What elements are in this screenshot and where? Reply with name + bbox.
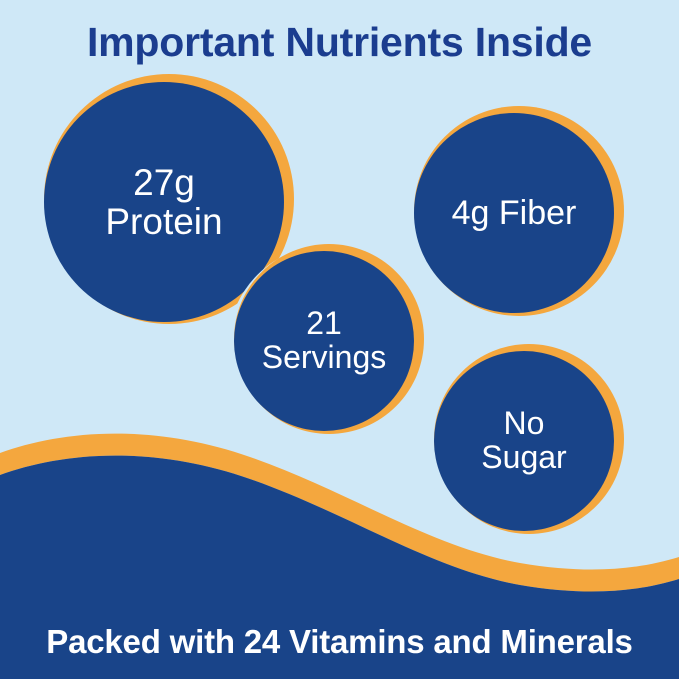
nutrient-bubble-servings: 21 Servings	[234, 244, 424, 434]
bubble-line-2: Sugar	[475, 441, 572, 475]
bubble-line-1: 21	[256, 307, 393, 341]
bubble-disc: 4g Fiber	[414, 113, 614, 313]
bubble-disc: No Sugar	[434, 351, 614, 531]
footer-tagline: Packed with 24 Vitamins and Minerals	[0, 623, 679, 661]
nutrient-bubble-no-sugar: No Sugar	[434, 344, 624, 534]
bubble-line-2: Servings	[256, 341, 393, 375]
bubble-line-2: Protein	[99, 202, 228, 241]
nutrient-bubble-fiber: 4g Fiber	[414, 106, 624, 316]
bubble-line-1: No	[475, 407, 572, 441]
bubble-line-1: 4g Fiber	[446, 195, 583, 231]
page-title: Important Nutrients Inside	[0, 19, 679, 66]
bubble-line-1: 27g	[99, 163, 228, 202]
bubble-disc: 21 Servings	[234, 251, 414, 431]
nutrition-infographic: Important Nutrients Inside 27g Protein 4…	[0, 0, 679, 679]
